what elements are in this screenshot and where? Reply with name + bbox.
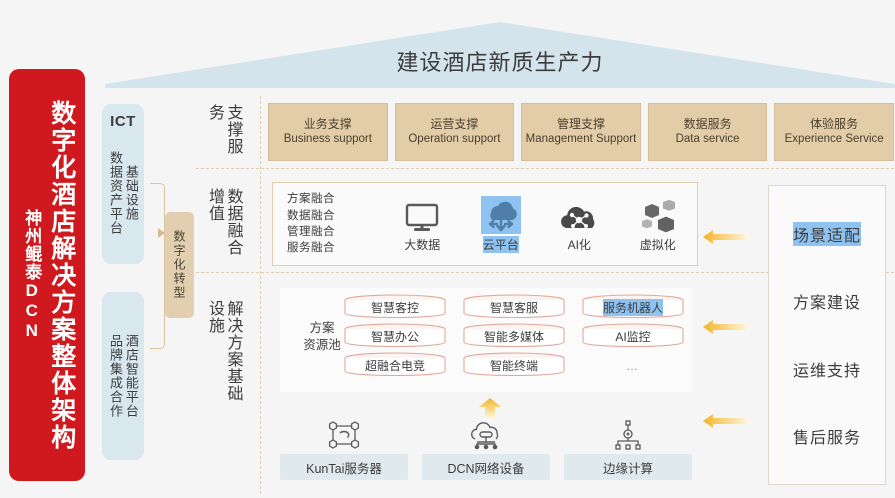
left-arrow-icon-3 (703, 412, 749, 430)
infra-item-label: KunTai服务器 (280, 454, 408, 480)
resource-pool-grid: 智慧客控 智慧客服 服务机器人 智慧办公 智能多媒体 AI监控 (342, 294, 686, 376)
edge-tree-icon (612, 418, 644, 452)
divider-vertical (260, 96, 261, 494)
cloud-network-icon (468, 418, 504, 452)
pool-item-label: … (626, 359, 640, 373)
sidebar-box-hotel[interactable]: 酒店智能平台 品牌集成合作 (102, 292, 144, 460)
support-cell-experience[interactable]: 体验服务 Experience Service (774, 103, 894, 161)
support-cell-en: Operation support (408, 132, 500, 147)
data-fusion-panel: 方案融合 数据融合 管理融合 服务融合 大数据 (272, 182, 698, 266)
row-label-infra-text: 解决方案基础设施 (204, 300, 241, 408)
fusion-item-label: AI化 (568, 236, 591, 253)
server-mesh-icon (328, 418, 360, 452)
pool-item-label-wrap: AI监控 (580, 323, 686, 347)
ict-line1: 基础设施 (123, 165, 139, 221)
infra-item-kuntai[interactable]: KunTai服务器 (280, 418, 408, 480)
support-cell-en: Business support (284, 132, 372, 147)
pool-item-label-wrap: … (580, 352, 686, 376)
support-cell-business[interactable]: 业务支撑 Business support (268, 103, 388, 161)
support-cell-cn: 体验服务 (810, 117, 858, 133)
right-item-solution[interactable]: 方案建设 (793, 289, 861, 313)
pool-item-label: 智能多媒体 (484, 328, 544, 345)
right-item-scenario[interactable]: 场景适配 (793, 222, 861, 246)
cloud-sync-icon (481, 196, 521, 234)
pool-item[interactable]: 智慧客控 (342, 294, 448, 318)
pool-item-label-wrap: 智能终端 (461, 352, 567, 376)
fusion-item-cloud[interactable]: 云平台 (470, 196, 532, 253)
digital-transform-tag[interactable]: 数字化转型 (165, 212, 194, 318)
pool-item-label: 智慧办公 (371, 328, 419, 345)
roof-shape: 建设酒店新质生产力 (105, 22, 895, 88)
pool-item-label-wrap: 智慧客服 (461, 294, 567, 318)
fusion-item-ai[interactable]: AI化 (548, 196, 610, 253)
fusion-item-label: 大数据 (404, 236, 440, 253)
pool-item[interactable]: 智慧客服 (461, 294, 567, 318)
right-item-aftersales[interactable]: 售后服务 (793, 424, 861, 448)
infra-item-label: DCN网络设备 (422, 454, 550, 480)
pool-item-label-wrap: 智慧客控 (342, 294, 448, 318)
support-cell-cn: 管理支撑 (557, 117, 605, 133)
monitor-icon (405, 196, 439, 234)
banner-main-title: 数字化酒店解决方案整体架构 (48, 100, 75, 451)
pool-item-label-wrap: 超融合电竞 (342, 352, 448, 376)
support-cell-en: Data service (676, 132, 740, 147)
divider-top (196, 168, 894, 169)
ai-cloud-icon (559, 196, 599, 234)
pool-item[interactable]: 智能多媒体 (461, 323, 567, 347)
pool-item-ellipsis: … (580, 352, 686, 376)
support-cell-cn: 运营支撑 (430, 117, 478, 133)
pool-item-label: 智慧客服 (490, 299, 538, 316)
right-item-ops[interactable]: 运维支持 (793, 357, 861, 381)
left-arrow-icon-1 (703, 228, 749, 246)
pool-item-highlighted[interactable]: 服务机器人 (580, 294, 686, 318)
resource-pool-panel: 方案 资源池 智慧客控 智慧客服 服务机器人 智慧办公 智能多媒体 (280, 288, 692, 392)
pool-item-label-wrap: 服务机器人 (580, 294, 686, 318)
digital-transform-label: 数字化转型 (171, 230, 188, 300)
infra-item-edge[interactable]: 边缘计算 (564, 418, 692, 480)
fusion-item-label: 虚拟化 (640, 236, 676, 253)
support-cell-data[interactable]: 数据服务 Data service (648, 103, 768, 161)
pool-item-label-wrap: 智慧办公 (342, 323, 448, 347)
roof-title: 建设酒店新质生产力 (105, 22, 895, 88)
pool-item-label-wrap: 智能多媒体 (461, 323, 567, 347)
cubes-icon (638, 196, 678, 234)
support-cell-cn: 业务支撑 (304, 117, 352, 133)
support-cell-management[interactable]: 管理支撑 Management Support (521, 103, 641, 161)
fusion-item-virtualization[interactable]: 虚拟化 (627, 196, 689, 253)
banner-sub-title: 神州鲲泰DCN (19, 209, 44, 341)
pool-item-label: 超融合电竞 (365, 357, 425, 374)
fusion-text-block: 方案融合 数据融合 管理融合 服务融合 (273, 191, 383, 256)
pool-item[interactable]: 智慧办公 (342, 323, 448, 347)
row-label-support-text: 支撑服务 (204, 104, 241, 160)
ict-label: ICT (102, 113, 144, 130)
pool-item-label: AI监控 (615, 328, 650, 345)
fusion-item-label: 云平台 (483, 236, 519, 253)
support-cell-operation[interactable]: 运营支撑 Operation support (395, 103, 515, 161)
pool-item-label: 智慧客控 (371, 299, 419, 316)
fusion-item-bigdata[interactable]: 大数据 (391, 196, 453, 253)
support-cell-cn: 数据服务 (684, 117, 732, 133)
row-label-data-text: 数据融合增值 (204, 188, 241, 260)
support-cell-en: Experience Service (785, 132, 884, 147)
fusion-icon-list: 大数据 云平台 (383, 196, 697, 253)
bracket-connector (150, 183, 165, 349)
sidebar-box-ict[interactable]: ICT 基础设施 数据资产平台 (102, 104, 144, 264)
support-services-row: 业务支撑 Business support 运营支撑 Operation sup… (268, 103, 894, 161)
pool-item[interactable]: 超融合电竞 (342, 352, 448, 376)
support-cell-en: Management Support (526, 132, 637, 147)
infra-item-dcn[interactable]: DCN网络设备 (422, 418, 550, 480)
row-label-data: 数据融合增值 (199, 188, 247, 260)
hotel-line3: 品牌集成合作 (107, 334, 123, 418)
bracket-arrow-icon (158, 228, 165, 238)
pool-item-label: 智能终端 (490, 357, 538, 374)
pool-item[interactable]: AI监控 (580, 323, 686, 347)
infrastructure-row: KunTai服务器 DCN网络设备 (280, 418, 692, 480)
row-label-support: 支撑服务 (199, 104, 247, 160)
right-service-panel: 场景适配 方案建设 运维支持 售后服务 (768, 185, 886, 485)
title-banner: 数字化酒店解决方案整体架构 神州鲲泰DCN (9, 69, 85, 481)
architecture-diagram: 数字化酒店解决方案整体架构 神州鲲泰DCN 建设酒店新质生产力 ICT 基础设施… (0, 0, 895, 498)
ict-line3: 数据资产平台 (107, 151, 123, 235)
pool-item[interactable]: 智能终端 (461, 352, 567, 376)
row-label-infra: 解决方案基础设施 (199, 300, 247, 408)
infra-item-label: 边缘计算 (564, 454, 692, 480)
left-arrow-icon-2 (703, 318, 749, 336)
hotel-line1: 酒店智能平台 (123, 334, 139, 418)
pool-item-label: 服务机器人 (603, 299, 663, 316)
